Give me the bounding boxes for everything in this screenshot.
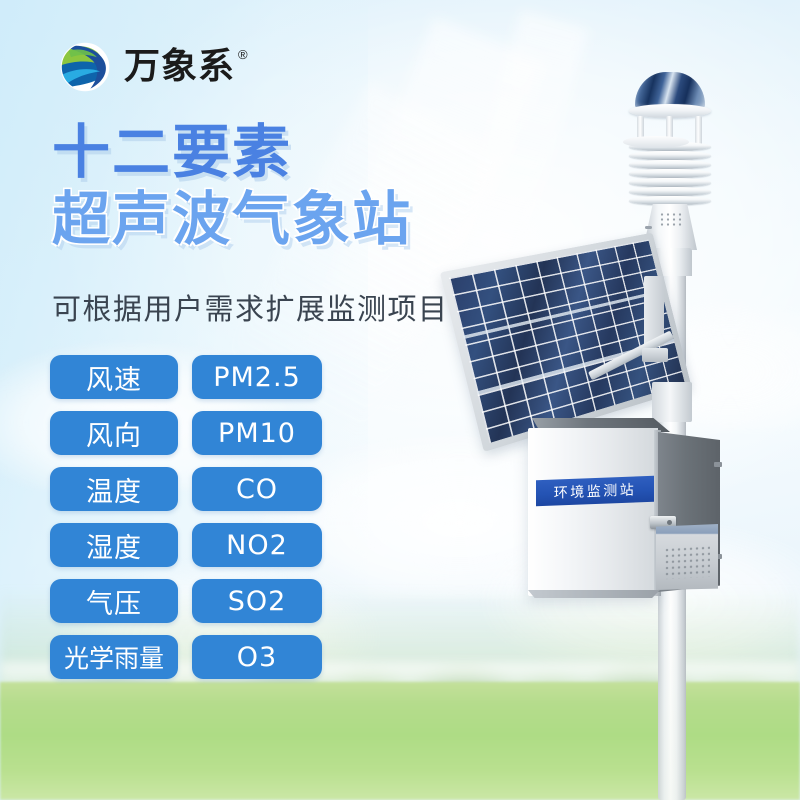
tag-pill[interactable]: 风向 xyxy=(50,411,178,455)
cabinet-front-panel xyxy=(528,428,658,596)
brand-logo: 万象系 ® xyxy=(58,40,248,94)
subtitle: 可根据用户需求扩展监测项目 xyxy=(52,286,449,328)
tag-pill[interactable]: CO xyxy=(192,467,322,511)
tag-pill[interactable]: 风速 xyxy=(50,355,178,399)
control-cabinet: 环境监测站 xyxy=(528,418,703,603)
cabinet-hinge xyxy=(714,462,722,467)
tag-row: 风向 PM10 xyxy=(50,411,322,455)
registered-trademark-icon: ® xyxy=(238,47,248,62)
brand-name: 万象系 xyxy=(124,49,235,85)
sensor-vent-holes xyxy=(659,212,683,226)
globe-swirl-logo-icon xyxy=(58,40,112,94)
tag-pill[interactable]: PM2.5 xyxy=(192,355,322,399)
headline-line-1: 十二要素 xyxy=(52,122,522,183)
feature-tag-list: 风速 PM2.5 风向 PM10 温度 CO 湿度 NO2 气压 SO2 光学雨… xyxy=(50,355,322,679)
sensor-indicator xyxy=(645,226,652,229)
mast-mount xyxy=(652,382,692,422)
cabinet-label: 环境监测站 xyxy=(536,476,654,507)
tag-pill[interactable]: 光学雨量 xyxy=(50,635,178,679)
ultrasonic-sensor-head xyxy=(615,72,725,247)
headline-line-2: 超声波气象站 xyxy=(52,189,522,250)
solar-panel-clamp xyxy=(642,348,668,362)
cabinet-vent-holes xyxy=(664,545,710,579)
tag-row: 光学雨量 O3 xyxy=(50,635,322,679)
product-poster: 环境监测站 万象系 xyxy=(0,0,800,800)
cabinet-bottom xyxy=(528,590,660,598)
tag-pill[interactable]: SO2 xyxy=(192,579,322,623)
tag-row: 气压 SO2 xyxy=(50,579,322,623)
tag-pill[interactable]: O3 xyxy=(192,635,322,679)
tag-pill[interactable]: 温度 xyxy=(50,467,178,511)
headline-block: 十二要素 超声波气象站 xyxy=(52,122,522,251)
cabinet-label-text: 环境监测站 xyxy=(554,479,637,502)
tag-row: 湿度 NO2 xyxy=(50,523,322,567)
tag-pill[interactable]: 湿度 xyxy=(50,523,178,567)
shield-base-cap xyxy=(623,136,689,148)
radiation-shield xyxy=(629,142,711,208)
tag-pill[interactable]: 气压 xyxy=(50,579,178,623)
tag-row: 温度 CO xyxy=(50,467,322,511)
tag-pill[interactable]: NO2 xyxy=(192,523,322,567)
tag-pill[interactable]: PM10 xyxy=(192,411,322,455)
tag-row: 风速 PM2.5 xyxy=(50,355,322,399)
